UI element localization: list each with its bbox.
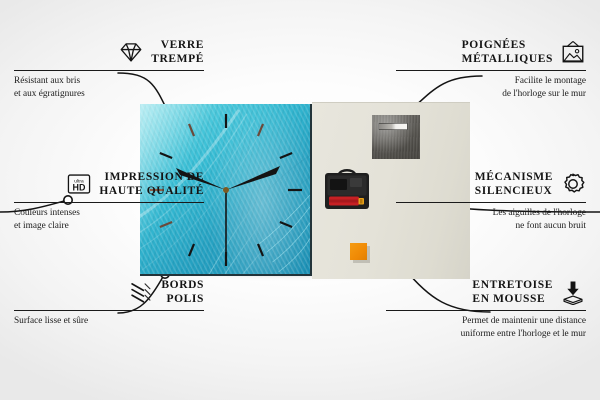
feature-title-line: BORDS xyxy=(161,278,204,292)
feature-title-line: SILENCIEUX xyxy=(475,184,553,198)
diamond-icon xyxy=(118,39,144,65)
foam-spacer-icon xyxy=(560,279,586,305)
feature-impression-haute-qualite: ultra HD IMPRESSION DE HAUTE QUALITÉ Cou… xyxy=(14,170,204,232)
feature-description: Couleurs intenses et image claire xyxy=(14,207,204,232)
feature-divider xyxy=(14,70,204,71)
feature-poignees-metalliques: POIGNÉES MÉTALLIQUES Facilite le montage… xyxy=(396,38,586,100)
feature-desc-line: Facilite le montage xyxy=(396,75,586,88)
feature-desc-line: de l'horloge sur le mur xyxy=(396,88,586,101)
feature-title-line: POLIS xyxy=(161,292,204,306)
feature-header: MÉCANISME SILENCIEUX xyxy=(396,170,586,198)
feature-title: MÉCANISME SILENCIEUX xyxy=(475,170,553,198)
feature-header: POIGNÉES MÉTALLIQUES xyxy=(396,38,586,66)
feature-title: POIGNÉES MÉTALLIQUES xyxy=(462,38,553,66)
feature-divider xyxy=(14,202,204,203)
tick-7 xyxy=(189,244,194,256)
feature-description: Surface lisse et sûre xyxy=(14,315,204,328)
foam-spacer xyxy=(350,243,367,260)
feature-header: VERRE TREMPÉ xyxy=(14,38,204,66)
feature-header: ultra HD IMPRESSION DE HAUTE QUALITÉ xyxy=(14,170,204,198)
feature-title-line: ENTRETOISE xyxy=(472,278,553,292)
feature-divider xyxy=(14,310,204,311)
tick-10 xyxy=(160,153,172,158)
feature-description: Les aiguilles de l'horloge ne font aucun… xyxy=(396,207,586,232)
feature-title-line: IMPRESSION DE xyxy=(99,170,204,184)
feature-desc-line: Résistant aux bris xyxy=(14,75,204,88)
feature-title-line: MÉTALLIQUES xyxy=(462,52,553,66)
feature-header: BORDS POLIS xyxy=(14,278,204,306)
feature-desc-line: Permet de maintenir une distance xyxy=(386,315,586,328)
feature-title: ENTRETOISE EN MOUSSE xyxy=(472,278,553,306)
feature-entretoise-en-mousse: ENTRETOISE EN MOUSSE Permet de maintenir… xyxy=(386,278,586,340)
feature-title-line: POIGNÉES xyxy=(462,38,553,52)
feature-desc-line: Les aiguilles de l'horloge xyxy=(396,207,586,220)
hanger-slot xyxy=(378,123,408,130)
feature-desc-line: et image claire xyxy=(14,220,204,233)
feature-title-line: EN MOUSSE xyxy=(472,292,553,306)
gear-icon xyxy=(560,171,586,197)
feature-title-line: HAUTE QUALITÉ xyxy=(99,184,204,198)
infographic-canvas: VERRE TREMPÉ Résistant aux bris et aux é… xyxy=(0,0,600,400)
tick-5 xyxy=(258,244,263,256)
feature-desc-line: et aux égratignures xyxy=(14,88,204,101)
feature-description: Résistant aux bris et aux égratignures xyxy=(14,75,204,100)
tick-11 xyxy=(189,124,194,136)
tick-4 xyxy=(280,222,292,227)
feature-verre-trempe: VERRE TREMPÉ Résistant aux bris et aux é… xyxy=(14,38,204,100)
quartz-movement xyxy=(324,167,370,211)
feature-header: ENTRETOISE EN MOUSSE xyxy=(386,278,586,306)
tick-1 xyxy=(258,124,263,136)
feature-bords-polis: BORDS POLIS Surface lisse et sûre xyxy=(14,278,204,328)
hands-center-cap xyxy=(223,187,229,193)
feature-description: Permet de maintenir une distance uniform… xyxy=(386,315,586,340)
feature-desc-line: Surface lisse et sûre xyxy=(14,315,204,328)
feature-title: IMPRESSION DE HAUTE QUALITÉ xyxy=(99,170,204,198)
ultra-hd-icon-main-text: HD xyxy=(73,183,86,193)
picture-hanger-icon xyxy=(560,39,586,65)
feature-mecanisme-silencieux: MÉCANISME SILENCIEUX Les aiguilles de l'… xyxy=(396,170,586,232)
feature-divider xyxy=(386,310,586,311)
feature-title-line: MÉCANISME xyxy=(475,170,553,184)
feature-title: BORDS POLIS xyxy=(161,278,204,306)
minute-hand xyxy=(226,166,280,190)
feature-description: Facilite le montage de l'horloge sur le … xyxy=(396,75,586,100)
feature-desc-line: Couleurs intenses xyxy=(14,207,204,220)
metal-hanger-plate xyxy=(372,115,420,159)
feature-divider xyxy=(396,202,586,203)
feature-divider xyxy=(396,70,586,71)
feature-desc-line: ne font aucun bruit xyxy=(396,220,586,233)
polished-edges-icon xyxy=(128,279,154,305)
feature-desc-line: uniforme entre l'horloge et le mur xyxy=(386,328,586,341)
feature-title: VERRE TREMPÉ xyxy=(151,38,204,66)
feature-title-line: TREMPÉ xyxy=(151,52,204,66)
ultra-hd-icon: ultra HD xyxy=(66,171,92,197)
tick-2 xyxy=(280,153,292,158)
feature-title-line: VERRE xyxy=(151,38,204,52)
